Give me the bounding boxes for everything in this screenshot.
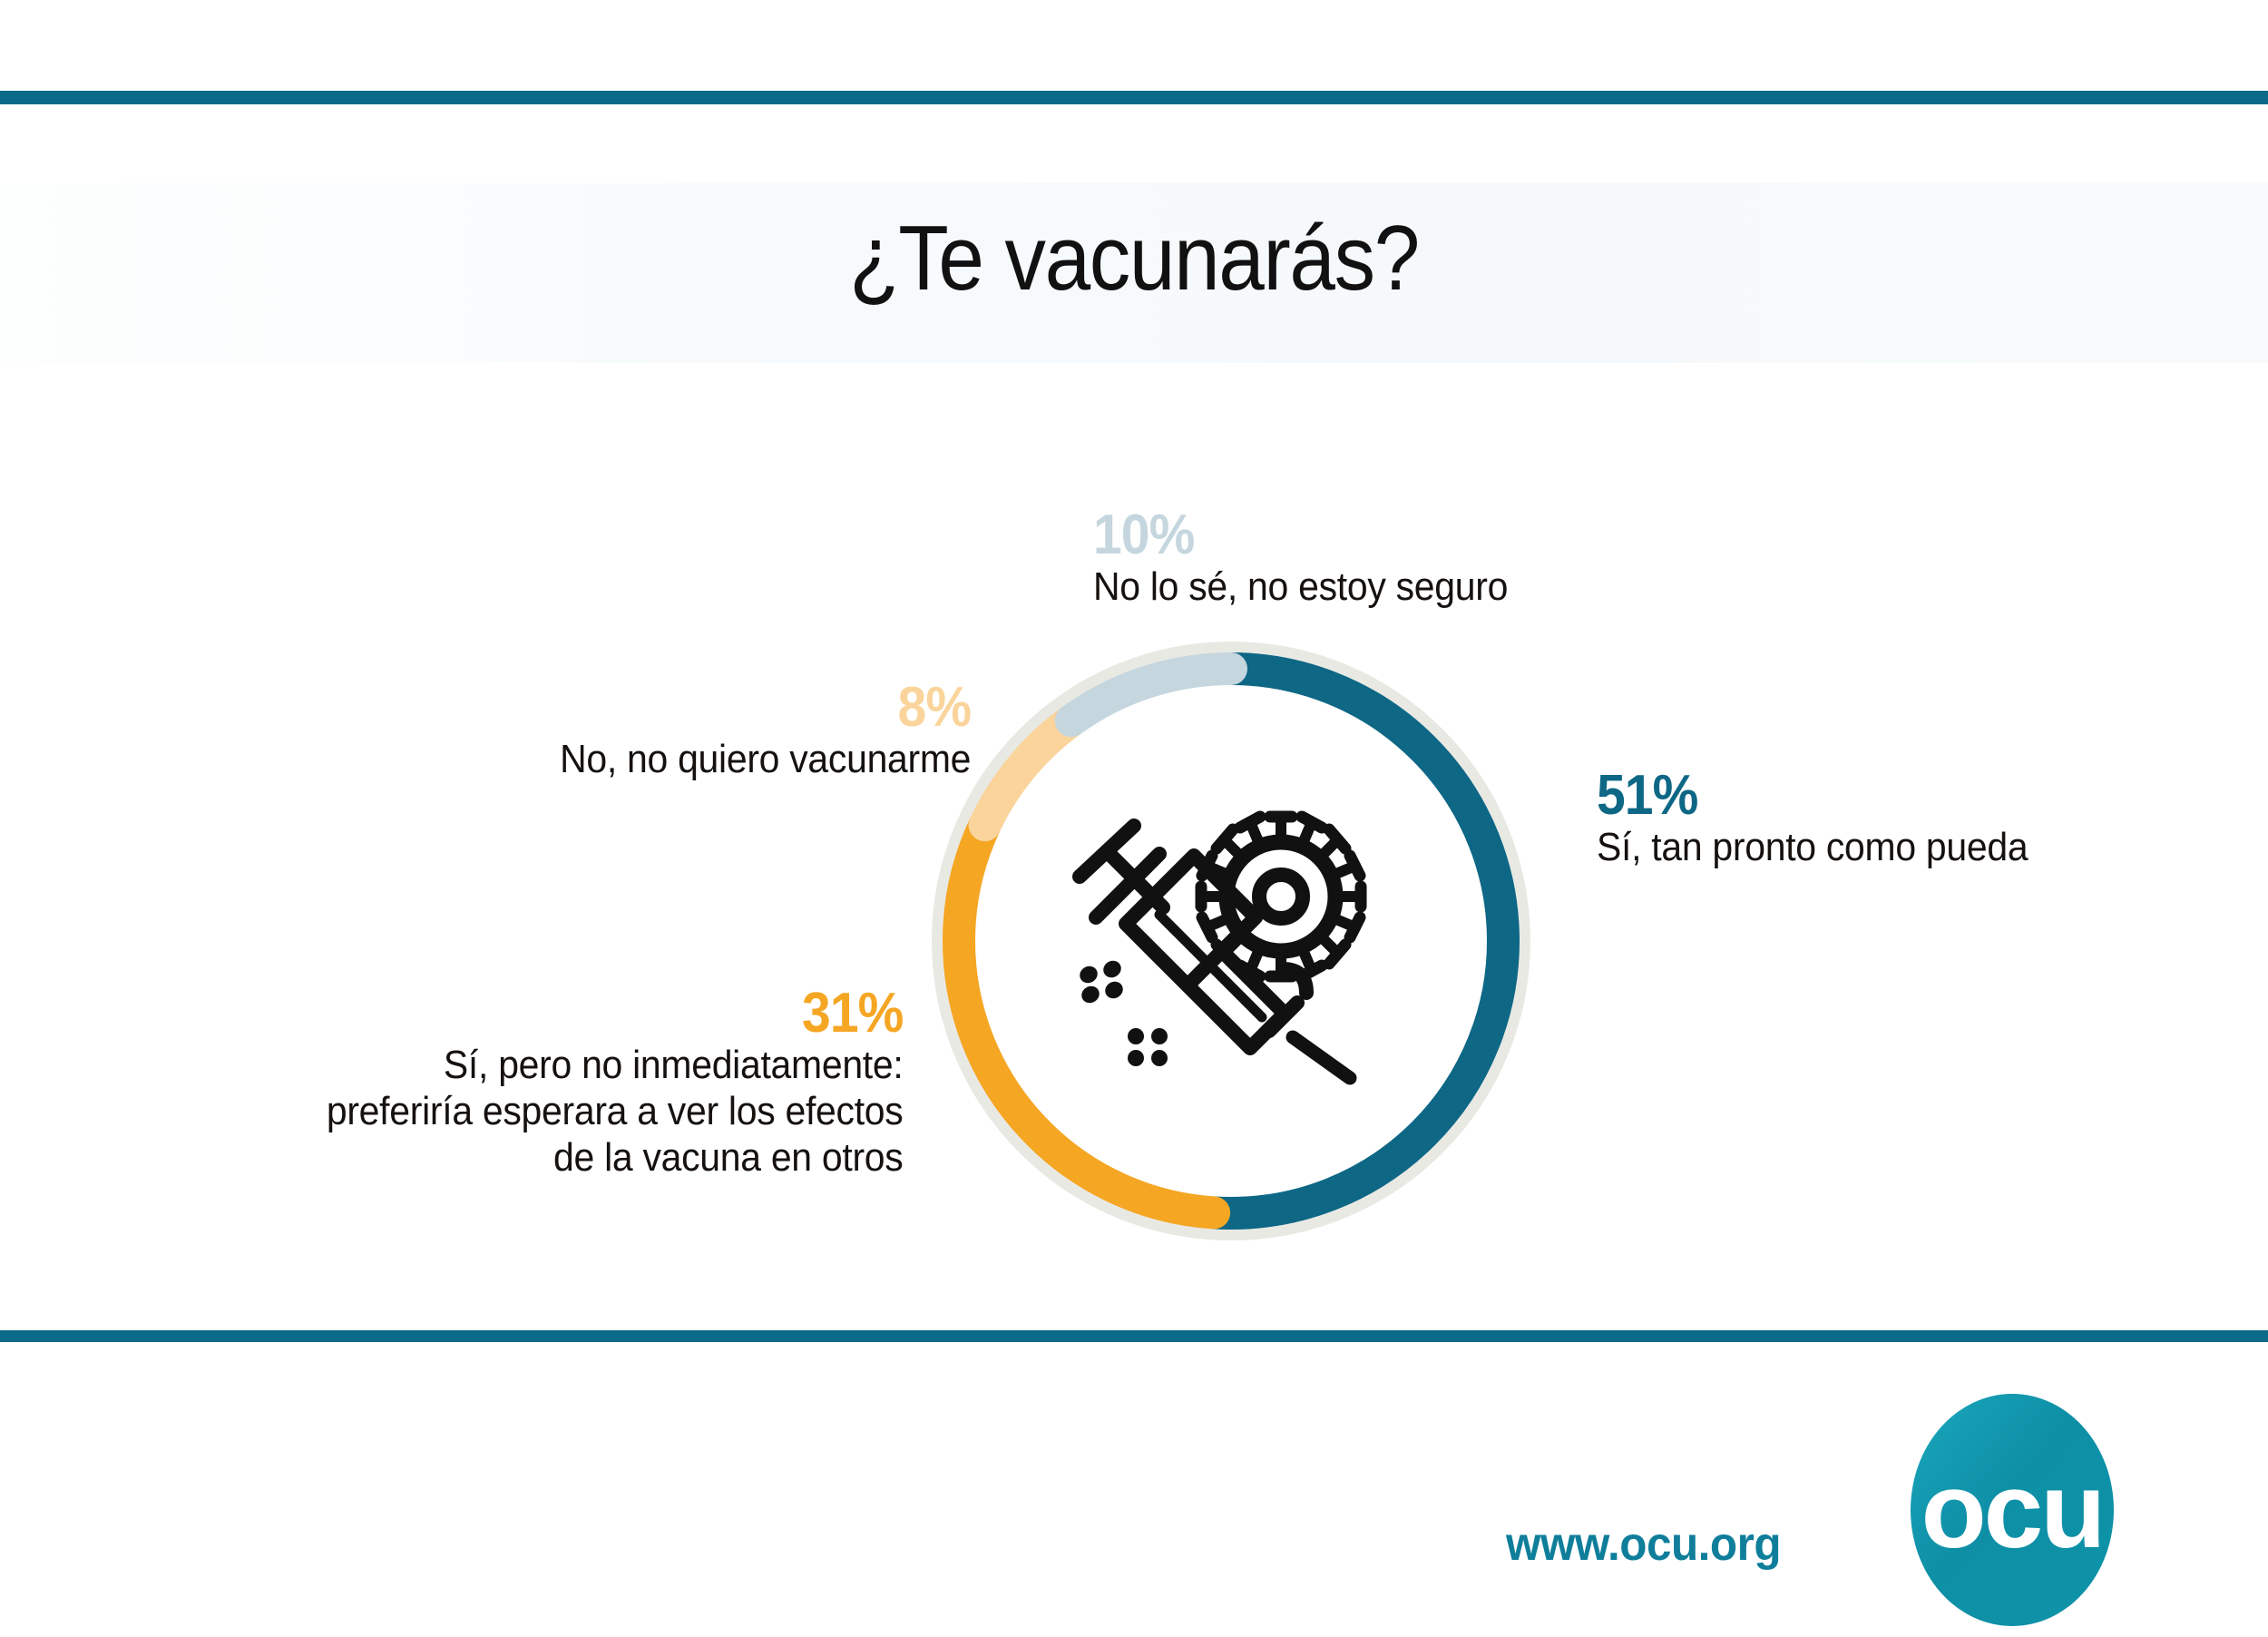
callout-no-label: No, no quiero vacunarme xyxy=(560,736,971,782)
page-title: ¿Te vacunarás? xyxy=(113,207,2155,311)
callout-yes-wait-label: Sí, pero no inmediatamente: preferiría e… xyxy=(326,1042,903,1181)
callout-yes-asap-label: Sí, tan pronto como pueda xyxy=(1597,824,2028,870)
callout-yes-wait-percent: 31% xyxy=(332,985,903,1042)
syringe-virus-heart-icon xyxy=(1069,797,1386,1087)
ocu-logo[interactable]: ocu xyxy=(1903,1391,2121,1629)
website-url[interactable]: www.ocu.org xyxy=(1506,1517,1781,1572)
callout-yes-wait: 31% Sí, pero no inmediatamente: preferir… xyxy=(283,985,903,1181)
top-rule xyxy=(0,91,2268,104)
callout-unsure: 10% No lo sé, no estoy seguro xyxy=(1093,506,1539,610)
callout-no: 8% No, no quiero vacunarme xyxy=(529,679,971,782)
callout-no-percent: 8% xyxy=(564,679,971,736)
infographic-page: ¿Te vacunarás? xyxy=(0,0,2268,1637)
callout-yes-asap-percent: 51% xyxy=(1597,767,2023,824)
bottom-rule xyxy=(0,1330,2268,1342)
callout-unsure-percent: 10% xyxy=(1093,506,1503,564)
callout-unsure-label: No lo sé, no estoy seguro xyxy=(1093,564,1508,610)
callout-yes-asap: 51% Sí, tan pronto como pueda xyxy=(1597,767,2060,870)
logo-wordmark: ocu xyxy=(1921,1451,2104,1571)
